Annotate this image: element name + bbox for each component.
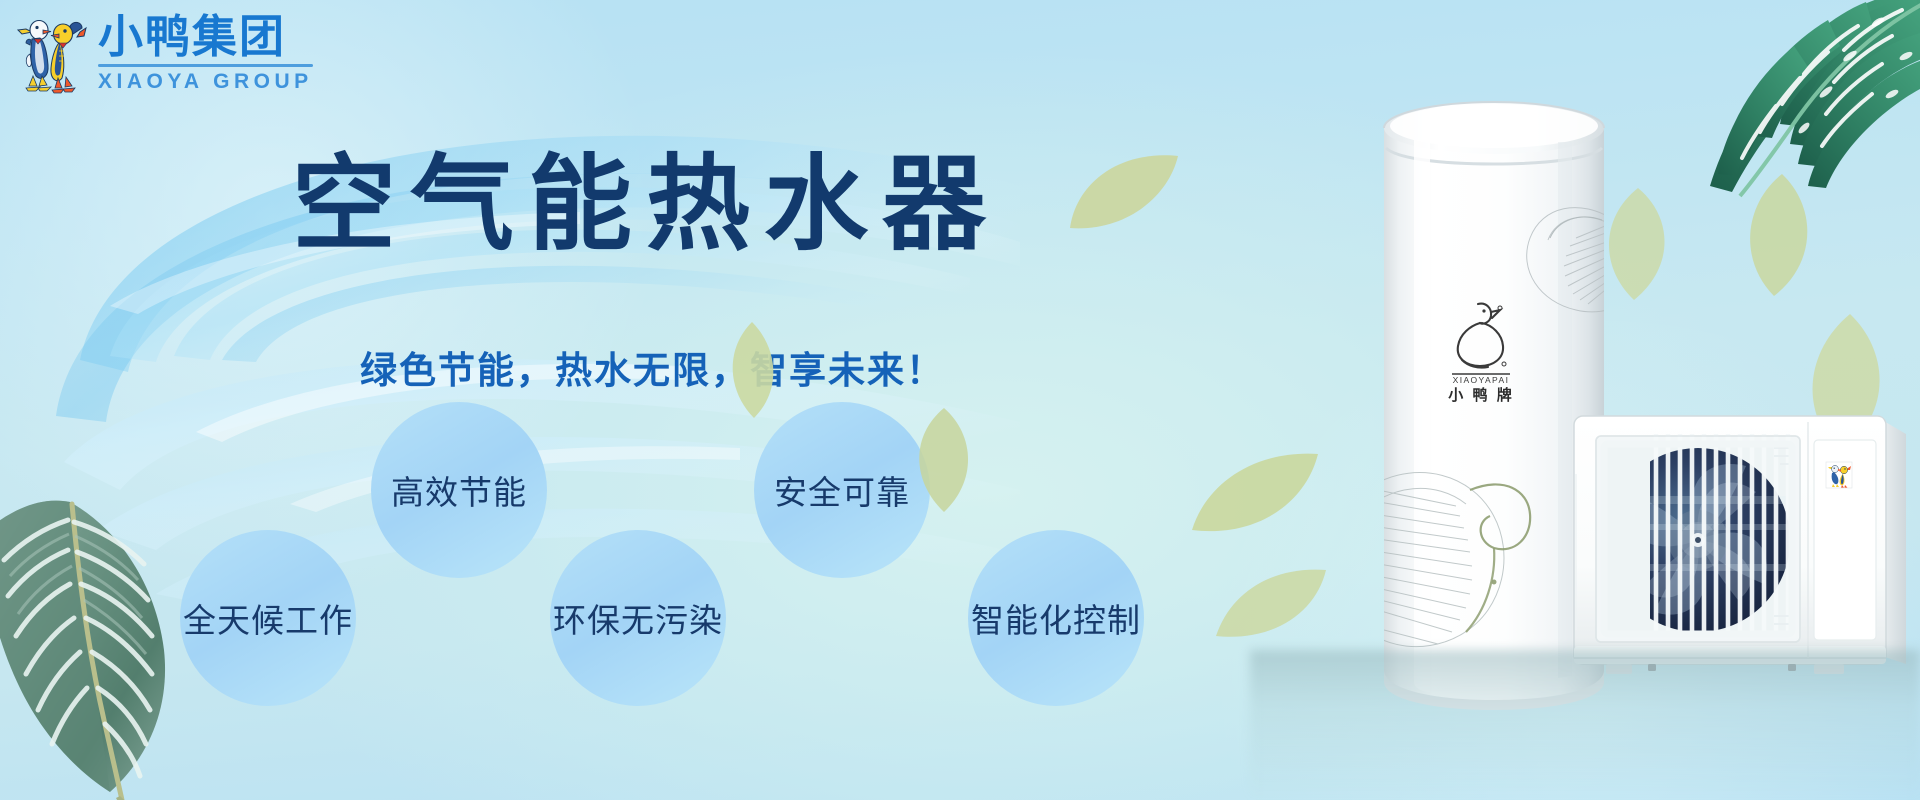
accent-leaf-icon	[1062, 136, 1192, 246]
brand-divider	[98, 64, 313, 67]
promo-banner: 小鸭集团 XIAOYA GROUP 空气能热水器 绿色节能，热水无限，智享未来！…	[0, 0, 1920, 800]
accent-leaf-icon	[1186, 444, 1326, 548]
hero-subtitle: 绿色节能，热水无限，智享未来！	[360, 340, 945, 394]
duck-mascot-sticker-icon	[1826, 462, 1852, 488]
feature-bubble[interactable]: 环保无污染	[550, 530, 726, 706]
feature-label: 全天候工作	[183, 594, 353, 642]
page-title: 空气能热水器	[292, 152, 1000, 256]
brand-name-en: XIAOYA GROUP	[98, 71, 313, 92]
accent-leaf-icon	[1212, 562, 1332, 648]
feature-label: 高效节能	[391, 466, 527, 514]
tank-brand-cn: 小 鸭 牌	[1448, 386, 1513, 404]
duck-mascot-pair-icon	[16, 10, 88, 96]
feature-label: 环保无污染	[553, 594, 723, 642]
brand-name-cn: 小鸭集团	[98, 14, 313, 59]
heat-pump-outdoor-unit-icon	[1574, 416, 1906, 674]
brand-wordmark: 小鸭集团 XIAOYA GROUP	[98, 14, 313, 92]
tank-brand-en: XIAOYAPAI	[1453, 375, 1510, 385]
feature-label: 智能化控制	[971, 594, 1141, 642]
heat-pump-water-heater-product: XIAOYAPAI 小 鸭 牌	[1318, 70, 1918, 800]
feature-bubble[interactable]: 高效节能	[371, 402, 547, 578]
feature-bubble[interactable]: 安全可靠	[754, 402, 930, 578]
feature-bubble[interactable]: 全天候工作	[180, 530, 356, 706]
brand-logo[interactable]: 小鸭集团 XIAOYA GROUP	[16, 10, 313, 96]
feature-label: 安全可靠	[774, 466, 910, 514]
feature-bubble[interactable]: 智能化控制	[968, 530, 1144, 706]
